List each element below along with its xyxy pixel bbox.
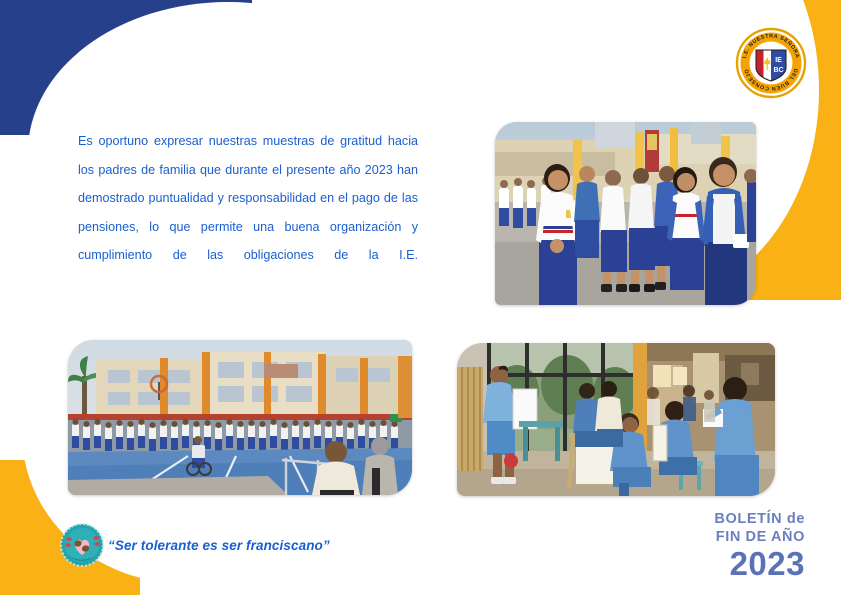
boletin-year: 2023	[714, 547, 805, 581]
boletin-line-1: BOLETÍN de	[714, 510, 805, 528]
boletin-block: BOLETÍN de FIN DE AÑO 2023	[714, 510, 805, 581]
svg-text:BC: BC	[773, 67, 783, 74]
photo-school-assembly	[68, 340, 412, 495]
top-left-navy-arc-decoration	[0, 0, 252, 135]
gratitude-paragraph: Es oportuno expresar nuestras muestras d…	[78, 127, 418, 298]
newsletter-page: I.E. NUESTRA SEÑORA DEL BUEN CONSEJO IE …	[0, 0, 841, 595]
photo-students-line	[495, 122, 756, 305]
svg-text:IE: IE	[775, 57, 782, 64]
school-crest-icon: I.E. NUESTRA SEÑORA DEL BUEN CONSEJO IE …	[735, 27, 807, 99]
slogan-text: “Ser tolerante es ser franciscano”	[108, 538, 330, 553]
photo-art-workshop	[457, 343, 775, 496]
boletin-line-2: FIN DE AÑO	[714, 528, 805, 546]
gratitude-paragraph-text: Es oportuno expresar nuestras muestras d…	[78, 127, 418, 298]
tolerance-badge-icon	[60, 523, 104, 567]
